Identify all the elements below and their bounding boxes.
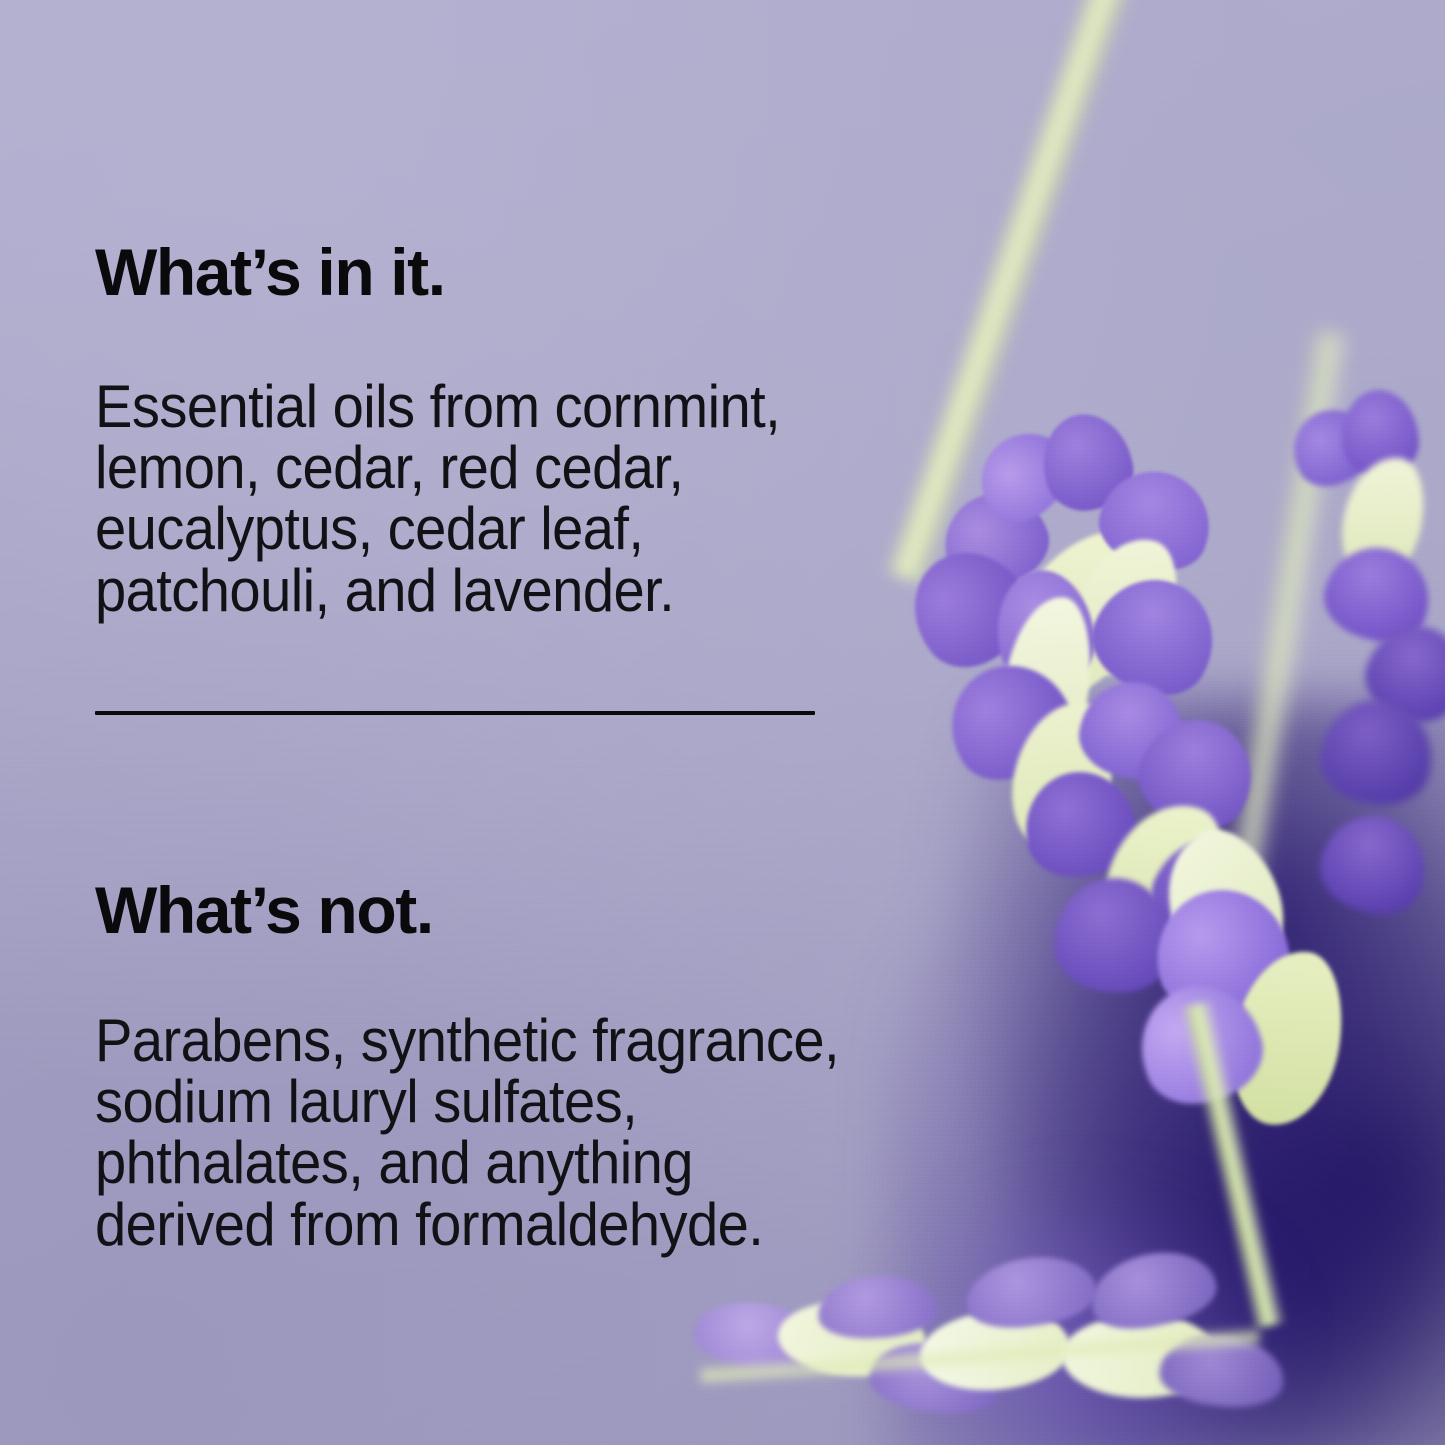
- product-detail-image: What’s in it. Essential oils from cornmi…: [0, 0, 1445, 1445]
- lavender-spike-right: [1282, 400, 1445, 860]
- section-divider: [95, 711, 815, 715]
- text-content: What’s in it. Essential oils from cornmi…: [95, 0, 1035, 1445]
- body-whats-not: Parabens, synthetic fragrance, sodium la…: [95, 1010, 839, 1255]
- heading-whats-not: What’s not.: [95, 877, 433, 943]
- heading-whats-in-it: What’s in it.: [95, 239, 445, 305]
- body-whats-in-it: Essential oils from cornmint, lemon, ced…: [95, 376, 780, 621]
